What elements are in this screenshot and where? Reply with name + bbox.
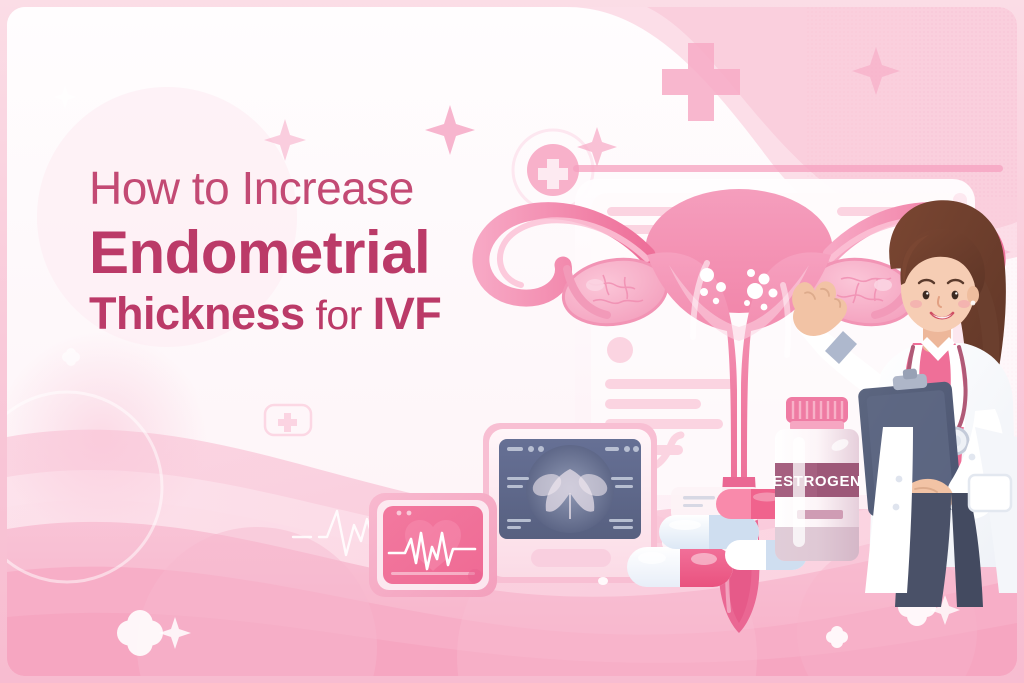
title-word-ivf: IVF (373, 288, 442, 339)
clover-icon (62, 348, 936, 656)
medication-group: ESTROGEN (7, 7, 1017, 676)
ecg-line-decor (293, 511, 456, 555)
bottle-label-text: ESTROGEN (773, 473, 862, 490)
endometrium-cells (700, 268, 778, 310)
clipboard (858, 368, 963, 516)
capsule-blue-right (725, 540, 807, 570)
ovary-left (559, 252, 672, 331)
heart-rate-monitor (7, 7, 1017, 676)
title-line-2: Endometrial (89, 223, 559, 283)
decorative-elements (7, 7, 1017, 676)
banner-root: ESTROGEN (0, 0, 1024, 683)
female-doctor (7, 7, 1017, 676)
title-word-for: for (305, 292, 373, 338)
capsule-pink (627, 547, 733, 587)
medical-cross-icon (662, 43, 740, 121)
banner-card: ESTROGEN (7, 7, 1017, 676)
capsule-blue (659, 515, 759, 549)
face-features (910, 280, 970, 319)
cross-badge-icon (513, 130, 1003, 210)
title-word-thickness: Thickness (89, 288, 305, 339)
title-line-3: Thickness for IVF (89, 291, 559, 336)
title-line-1: How to Increase (89, 165, 559, 211)
page-title: How to Increase Endometrial Thickness fo… (89, 165, 559, 336)
estrogen-bottle: ESTROGEN (773, 397, 862, 561)
capsule-rose (716, 489, 801, 519)
ovary-right (807, 252, 920, 331)
ultrasound-monitor (7, 7, 1017, 676)
background-waves (7, 7, 1017, 676)
doctor-hand (792, 281, 847, 336)
uterus-anatomy-diagram (7, 7, 1017, 676)
medical-record-panel (7, 7, 1017, 676)
